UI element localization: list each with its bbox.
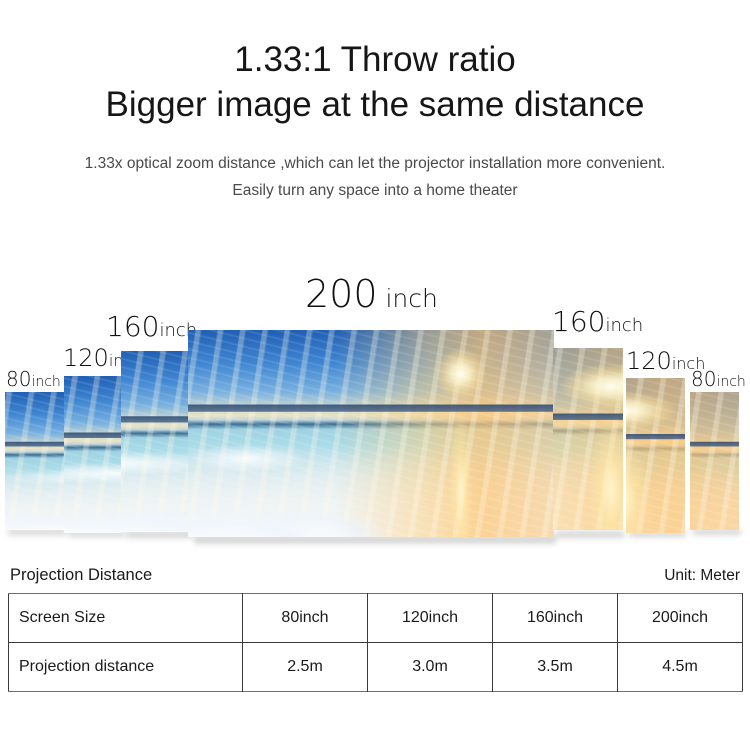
screen-panel-left-80 [5,392,64,530]
screen-label-size: 80 [6,367,31,391]
screen-panel-left-120 [64,376,121,533]
page-root: 1.33:1 Throw ratio Bigger image at the s… [0,0,750,750]
screen-panel-center-200 [188,330,554,537]
screen-label-size: 120 [63,344,109,372]
panel-shadow [556,531,624,538]
screen-label-size: 200 [305,272,378,316]
page-subtitle: 1.33x optical zoom distance ,which can l… [0,150,750,204]
projection-artwork [121,351,189,532]
screen-label-size: 160 [106,310,159,343]
cell-screen-size-160: 160inch [493,594,618,643]
screen-panel-right-160 [553,348,623,530]
projection-artwork [188,330,554,537]
screen-label-left-80: 80inch [6,367,61,391]
screen-label-right-80: 80inch [691,367,746,391]
cell-distance-80: 2.5m [243,643,368,692]
page-title-line2: Bigger image at the same distance [0,84,750,126]
screen-label-center-200: 200 inch [305,272,438,316]
projection-artwork [690,392,739,530]
cell-distance-160: 3.5m [493,643,618,692]
screen-label-size: 120 [626,347,672,375]
subtitle-line2: Easily turn any space into a home theate… [0,177,750,204]
table-caption: Projection Distance [10,566,152,585]
table-header-row: Projection Distance Unit: Meter [8,566,742,593]
projection-artwork [626,378,685,533]
screen-panel-right-80 [690,392,739,530]
table-unit-note: Unit: Meter [664,567,740,585]
subtitle-line1: 1.33x optical zoom distance ,which can l… [0,150,750,177]
cell-distance-200: 4.5m [618,643,743,692]
screen-label-right-160: 160inch [552,305,643,338]
screen-panel-right-120 [626,378,685,533]
page-title-line1: 1.33:1 Throw ratio [0,40,750,80]
projection-distance-section: Projection Distance Unit: Meter Screen S… [8,566,742,692]
screen-label-unit: inch [378,284,438,313]
table-row: Screen Size 80inch 120inch 160inch 200in… [9,594,743,643]
screen-label-unit: inch [605,315,643,336]
projection-distance-table: Screen Size 80inch 120inch 160inch 200in… [8,593,743,692]
screen-label-unit: inch [716,374,745,390]
projection-artwork [64,376,121,533]
cell-screen-size-120: 120inch [368,594,493,643]
projection-artwork [5,392,64,530]
cell-distance-120: 3.0m [368,643,493,692]
cell-screen-size-80: 80inch [243,594,368,643]
header: 1.33:1 Throw ratio Bigger image at the s… [0,0,750,204]
screen-size-comparison: 80inch 120inch 160inch 200 inch 160inch [0,255,750,555]
screen-label-left-160: 160inch [106,310,197,343]
row-label-screen-size: Screen Size [9,594,243,643]
screen-panel-left-160 [121,351,189,532]
table-row: Projection distance 2.5m 3.0m 3.5m 4.5m [9,643,743,692]
panel-shadow [126,531,192,538]
row-label-projection-distance: Projection distance [9,643,243,692]
screen-label-unit: inch [31,374,60,390]
screen-label-size: 160 [552,305,605,338]
screen-label-size: 80 [691,367,716,391]
projection-artwork [553,348,623,530]
cell-screen-size-200: 200inch [618,594,743,643]
